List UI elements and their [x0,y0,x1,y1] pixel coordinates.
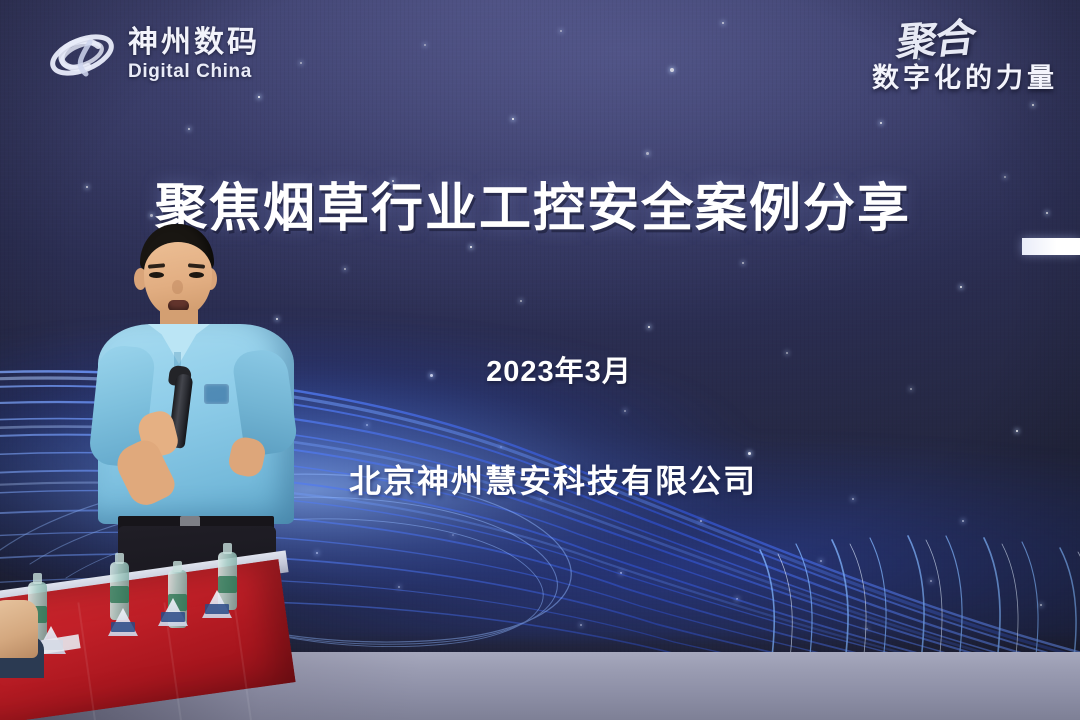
audience-table [0,548,290,720]
digital-china-swirl-icon [46,22,118,88]
decorative-bar [1022,238,1080,255]
shirt-chest-logo [204,384,229,404]
attendee-hand [0,600,38,658]
speaker-eye-left [149,272,164,278]
event-theme-logo: 聚合 数字化的力量 [790,18,1058,114]
digital-china-logo: 神州数码 Digital China [46,14,326,96]
name-plate-band [161,612,185,622]
speaker-eye-right [189,272,204,278]
brand-name-cn: 神州数码 [128,27,260,59]
conference-photo: 神州数码 Digital China 聚合 数字化的力量 聚焦烟草行业工控安全案… [0,0,1080,720]
digital-china-wordmark: 神州数码 Digital China [128,27,260,82]
speaker-nose [172,280,183,294]
theme-calligraphy: 聚合 [894,18,977,63]
theme-tagline: 数字化的力量 [790,64,1058,94]
name-plate-band [111,622,135,632]
brand-name-en: Digital China [128,61,260,83]
name-plate-band [205,604,229,614]
water-bottle [110,562,129,620]
